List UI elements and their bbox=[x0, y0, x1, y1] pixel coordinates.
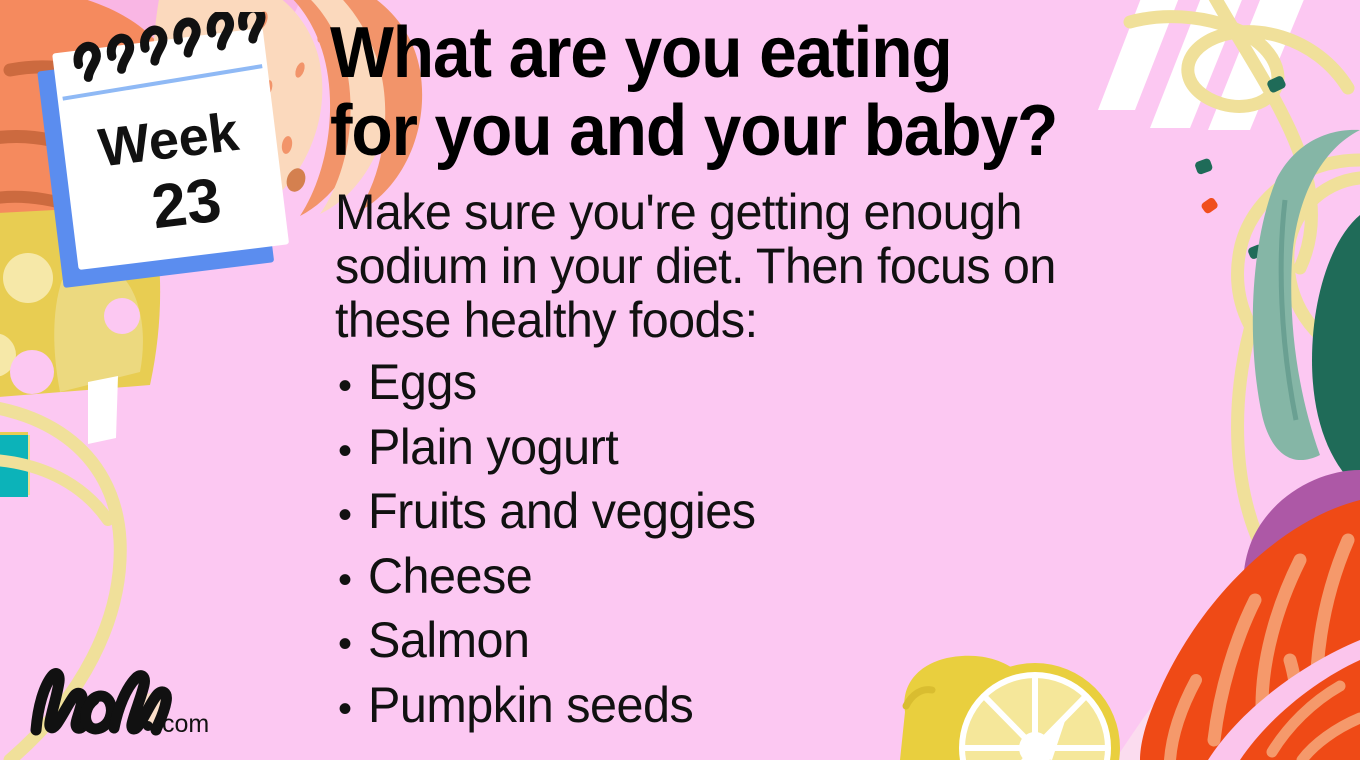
white-stripe-left bbox=[88, 376, 118, 444]
calendar-week-number: 23 bbox=[148, 165, 225, 242]
mom-dot-com-logo[interactable]: com bbox=[22, 652, 252, 744]
cheese-hole-pink bbox=[10, 350, 54, 394]
infographic-canvas: Week 23 What are you eating for you and … bbox=[0, 0, 1360, 760]
logo-tld: com bbox=[162, 710, 209, 738]
cheese-hole-pink bbox=[104, 298, 140, 334]
logo-period bbox=[143, 721, 153, 731]
week-calendar: Week 23 bbox=[20, 12, 320, 292]
calendar-body: Week 23 bbox=[33, 12, 291, 288]
